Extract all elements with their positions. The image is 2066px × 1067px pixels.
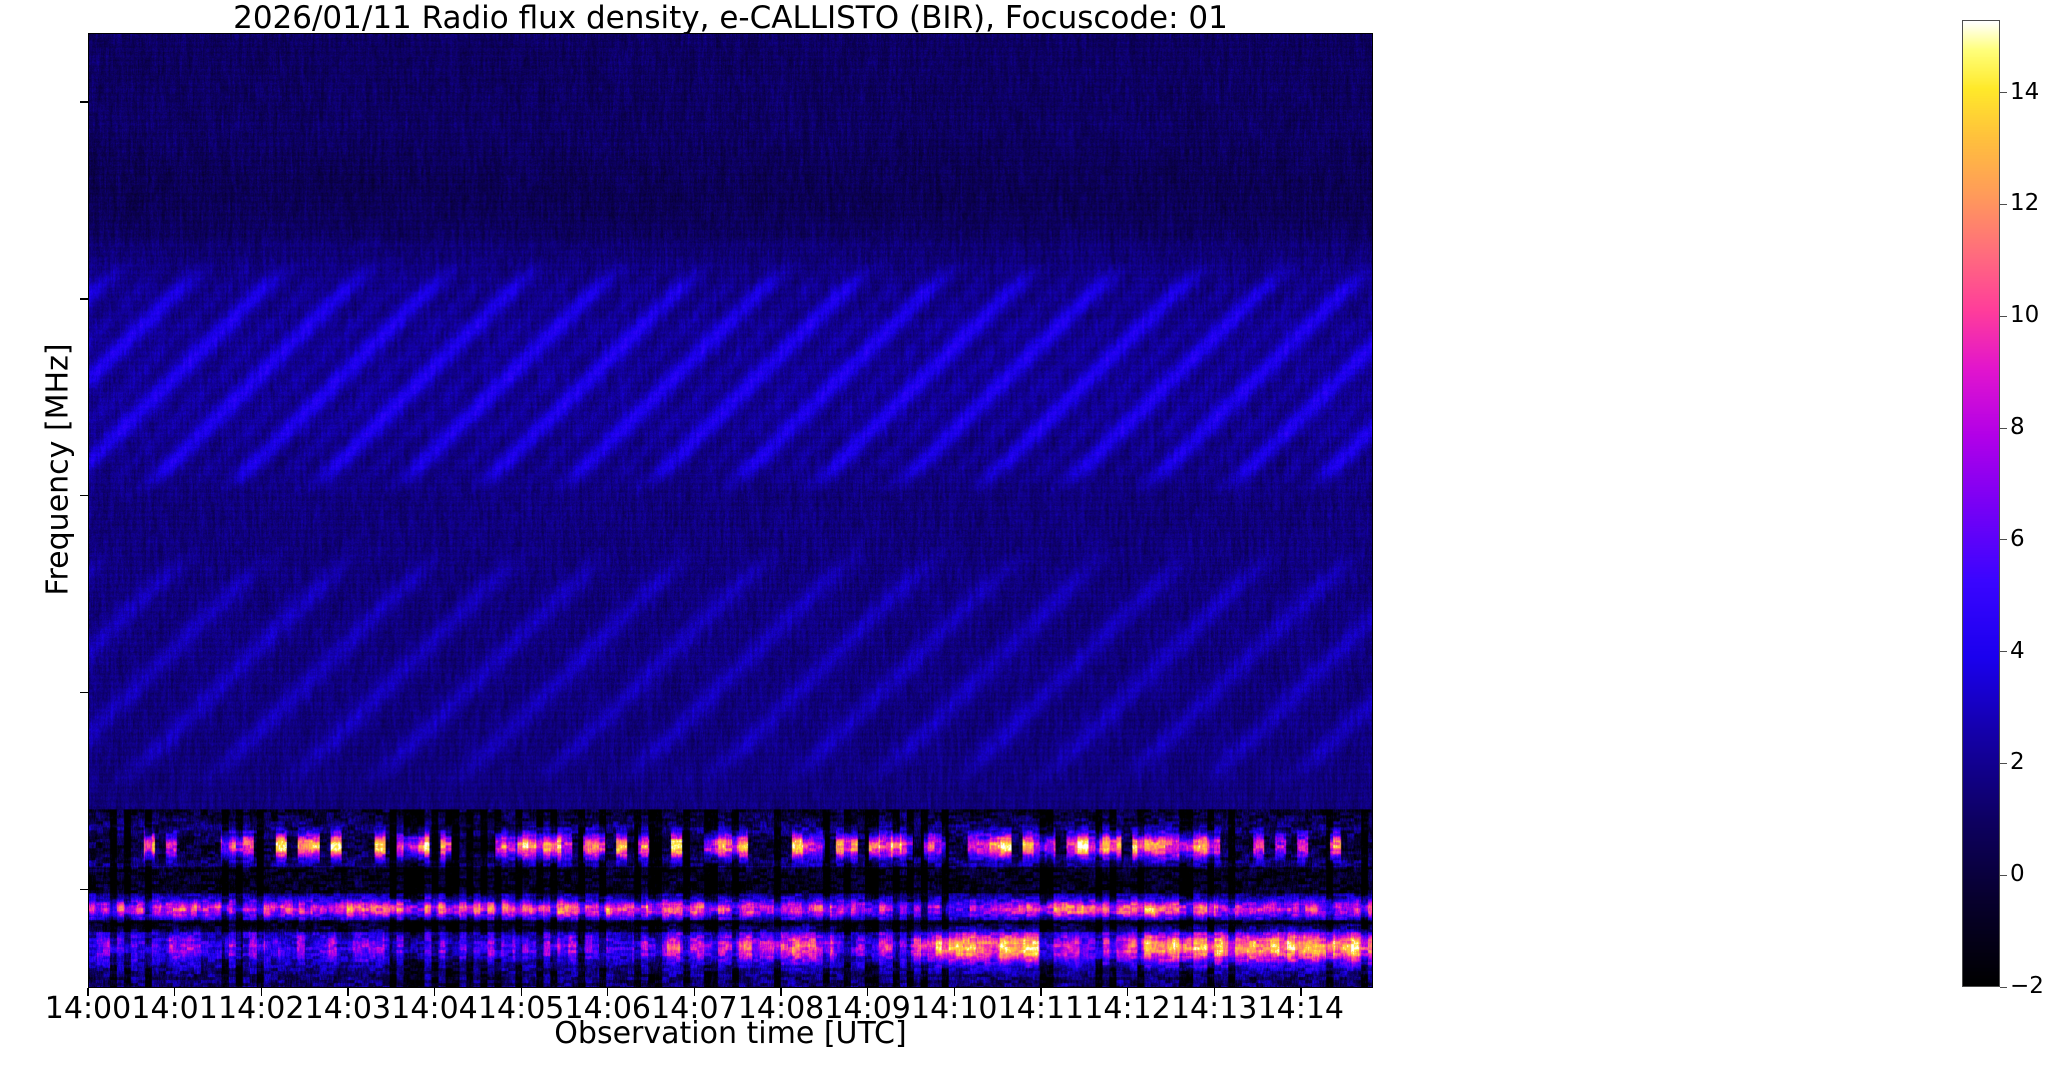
colorbar-tick-mark xyxy=(2000,539,2007,540)
y-tick-mark xyxy=(80,101,88,102)
colorbar-tick-label: 4 xyxy=(2010,640,2062,663)
y-tick-mark xyxy=(80,495,88,496)
colorbar-tick-label: 2 xyxy=(2010,751,2062,774)
colorbar xyxy=(1962,20,2000,987)
colorbar-tick-mark xyxy=(2000,316,2007,317)
colorbar-gradient xyxy=(1963,21,1999,986)
colorbar-tick-label: 12 xyxy=(2010,192,2062,215)
colorbar-tick-label: 0 xyxy=(2010,863,2062,886)
colorbar-tick-mark xyxy=(2000,428,2007,429)
colorbar-tick-mark xyxy=(2000,204,2007,205)
colorbar-tick-label: 10 xyxy=(2010,304,2062,327)
colorbar-tick-label: 14 xyxy=(2010,81,2062,104)
y-tick-mark xyxy=(80,298,88,299)
spectrogram-axes xyxy=(88,33,1373,988)
spectrogram-image xyxy=(89,34,1372,987)
colorbar-tick-label: −2 xyxy=(2010,975,2062,998)
y-tick-mark xyxy=(80,692,88,693)
y-axis-label: Frequency [MHz] xyxy=(41,260,76,680)
colorbar-tick-mark xyxy=(2000,987,2007,988)
colorbar-tick-mark xyxy=(2000,875,2007,876)
colorbar-tick-mark xyxy=(2000,763,2007,764)
colorbar-tick-label: 6 xyxy=(2010,528,2062,551)
figure-canvas: 2026/01/11 Radio flux density, e-CALLIST… xyxy=(0,0,2066,1067)
y-tick-mark xyxy=(80,889,88,890)
colorbar-tick-mark xyxy=(2000,92,2007,93)
x-axis-label: Observation time [UTC] xyxy=(88,1018,1373,1050)
page-title: 2026/01/11 Radio flux density, e-CALLIST… xyxy=(88,2,1373,35)
colorbar-tick-mark xyxy=(2000,651,2007,652)
colorbar-tick-label: 8 xyxy=(2010,416,2062,439)
